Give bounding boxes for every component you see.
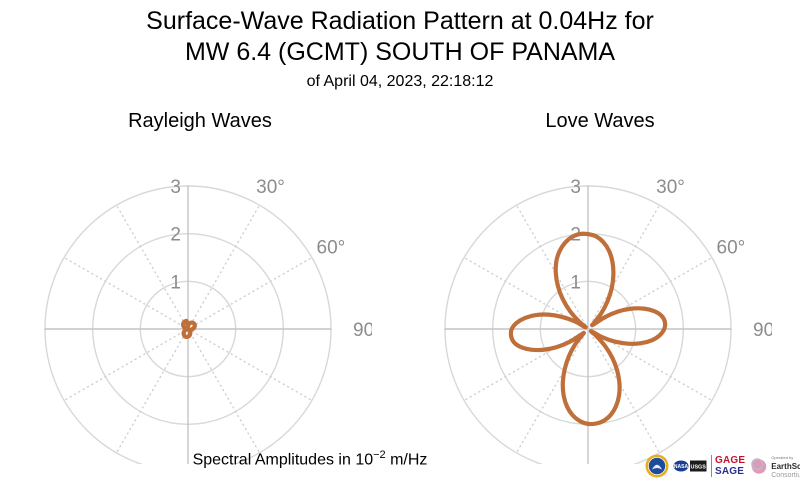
caption-prefix: Spectral Amplitudes in 10: [193, 451, 374, 468]
gage-sage-logo: GAGE SAGE: [711, 455, 745, 477]
grid-spoke-300: [64, 258, 188, 330]
svg-text:USGS: USGS: [691, 464, 707, 470]
sage-label: SAGE: [715, 466, 745, 477]
nsf-logo: [645, 454, 669, 478]
spectral-amplitude-caption: Spectral Amplitudes in 10−2 m/Hz: [0, 449, 620, 469]
angular-tick-label-30: 30°: [656, 177, 685, 198]
grid-spoke-210: [117, 329, 189, 453]
panel-love-waves: Love Waves 12330°60°90°: [428, 108, 772, 464]
earthscope-name: EarthScope: [771, 462, 800, 471]
polar-plot-rayleigh: 12330°60°90°: [28, 134, 372, 464]
polar-plot-love: 12330°60°90°: [428, 134, 772, 464]
angular-tick-label-90: 90°: [353, 320, 372, 341]
page-subtitle: of April 04, 2023, 22:18:12: [0, 70, 800, 94]
grid-spoke-150: [188, 329, 260, 453]
earthscope-consortium: Consortium: [771, 471, 800, 480]
logo-strip: NASA USGS GAGE SAGE Operated by EarthSco…: [645, 451, 800, 481]
angular-tick-label-60: 60°: [717, 238, 746, 259]
grid-spoke-150: [588, 329, 660, 453]
angular-tick-label-60: 60°: [317, 238, 346, 259]
angular-tick-label-30: 30°: [256, 177, 285, 198]
radial-tick-label-1: 1: [570, 272, 581, 293]
logo-divider: [711, 455, 712, 477]
nasa-usgs-icon: NASA USGS: [673, 456, 707, 476]
panel-title-rayleigh: Rayleigh Waves: [28, 108, 372, 134]
nsf-seal-icon: [645, 454, 669, 478]
grid-spoke-60: [188, 258, 312, 330]
page-title-line-1: Surface-Wave Radiation Pattern at 0.04Hz…: [0, 6, 800, 37]
radial-tick-label-2: 2: [170, 225, 181, 246]
panel-rayleigh-waves: Rayleigh Waves 12330°60°90°: [28, 108, 372, 464]
grid-spoke-30: [188, 205, 260, 329]
page-title-block: Surface-Wave Radiation Pattern at 0.04Hz…: [0, 6, 800, 94]
panel-title-love: Love Waves: [428, 108, 772, 134]
earthscope-logo: Operated by EarthScope Consortium: [749, 453, 800, 480]
caption-exponent: −2: [373, 449, 386, 461]
radial-tick-label-3: 3: [170, 177, 181, 198]
grid-spoke-240: [64, 329, 188, 401]
earthscope-operated-by: Operated by: [771, 453, 800, 462]
radiation-pattern-curve: [183, 321, 195, 337]
caption-suffix: m/Hz: [386, 451, 428, 468]
page-title-line-2: MW 6.4 (GCMT) SOUTH OF PANAMA: [0, 37, 800, 68]
radial-tick-label-1: 1: [170, 272, 181, 293]
earthscope-circle-icon: [749, 456, 769, 476]
nasa-usgs-logo: NASA USGS: [673, 456, 707, 476]
gage-label: GAGE: [715, 455, 745, 466]
grid-spoke-120: [188, 329, 312, 401]
angular-tick-label-90: 90°: [753, 320, 772, 341]
svg-text:NASA: NASA: [674, 464, 689, 470]
radial-tick-label-3: 3: [570, 177, 581, 198]
